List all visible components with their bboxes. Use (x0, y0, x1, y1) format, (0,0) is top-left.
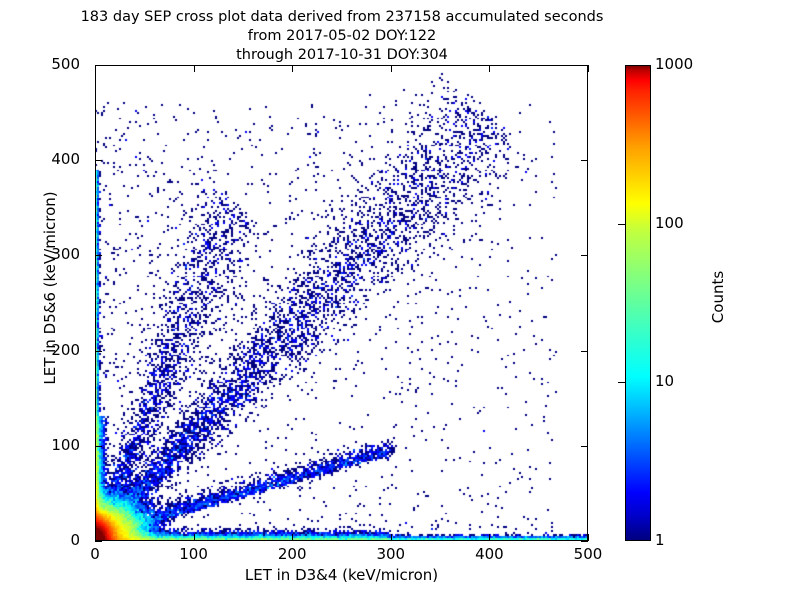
y-tick-right-100 (581, 446, 588, 447)
title-line-2: from 2017-05-02 DOY:122 (0, 27, 684, 46)
x-tick-top-500 (588, 65, 589, 72)
chart-page: 183 day SEP cross plot data derived from… (0, 0, 800, 600)
x-tick-label-300: 300 (351, 545, 431, 563)
colorbar-label: Counts (709, 217, 727, 377)
x-tick-100 (194, 534, 195, 541)
colorbar-gradient (626, 66, 650, 540)
y-tick-0 (95, 541, 102, 542)
y-tick-right-200 (581, 351, 588, 352)
y-tick-right-300 (581, 255, 588, 256)
y-tick-500 (95, 65, 102, 66)
x-tick-top-400 (489, 65, 490, 72)
x-tick-top-100 (194, 65, 195, 72)
x-tick-top-200 (292, 65, 293, 72)
y-tick-label-500: 500 (0, 55, 86, 73)
x-tick-label-500: 500 (548, 545, 628, 563)
density-scatter-canvas (96, 66, 587, 540)
y-tick-right-400 (581, 160, 588, 161)
colorbar (625, 65, 651, 541)
colorbar-tick-label-10: 10 (655, 372, 674, 390)
plot-area (95, 65, 588, 541)
y-tick-right-500 (581, 65, 588, 66)
y-axis-label: LET in D5&6 (keV/micron) (41, 118, 59, 458)
title-line-3: through 2017-10-31 DOY:304 (0, 46, 684, 65)
colorbar-tick-label-1: 1 (655, 531, 665, 549)
y-tick-400 (95, 160, 102, 161)
x-tick-label-0: 0 (55, 545, 135, 563)
y-tick-100 (95, 446, 102, 447)
title-line-1: 183 day SEP cross plot data derived from… (0, 8, 684, 27)
chart-title: 183 day SEP cross plot data derived from… (0, 8, 684, 65)
x-tick-label-400: 400 (449, 545, 529, 563)
colorbar-tick-10 (618, 382, 625, 383)
x-tick-label-200: 200 (252, 545, 332, 563)
x-tick-label-100: 100 (154, 545, 234, 563)
x-tick-top-300 (391, 65, 392, 72)
x-tick-300 (391, 534, 392, 541)
x-tick-400 (489, 534, 490, 541)
x-tick-top-0 (95, 65, 96, 72)
colorbar-tick-label-100: 100 (655, 214, 684, 232)
y-tick-300 (95, 255, 102, 256)
y-tick-200 (95, 351, 102, 352)
x-axis-label: LET in D3&4 (keV/micron) (95, 566, 588, 584)
x-tick-200 (292, 534, 293, 541)
y-tick-right-0 (581, 541, 588, 542)
colorbar-tick-100 (618, 224, 625, 225)
x-tick-0 (95, 534, 96, 541)
x-tick-500 (588, 534, 589, 541)
colorbar-tick-label-1000: 1000 (655, 55, 693, 73)
